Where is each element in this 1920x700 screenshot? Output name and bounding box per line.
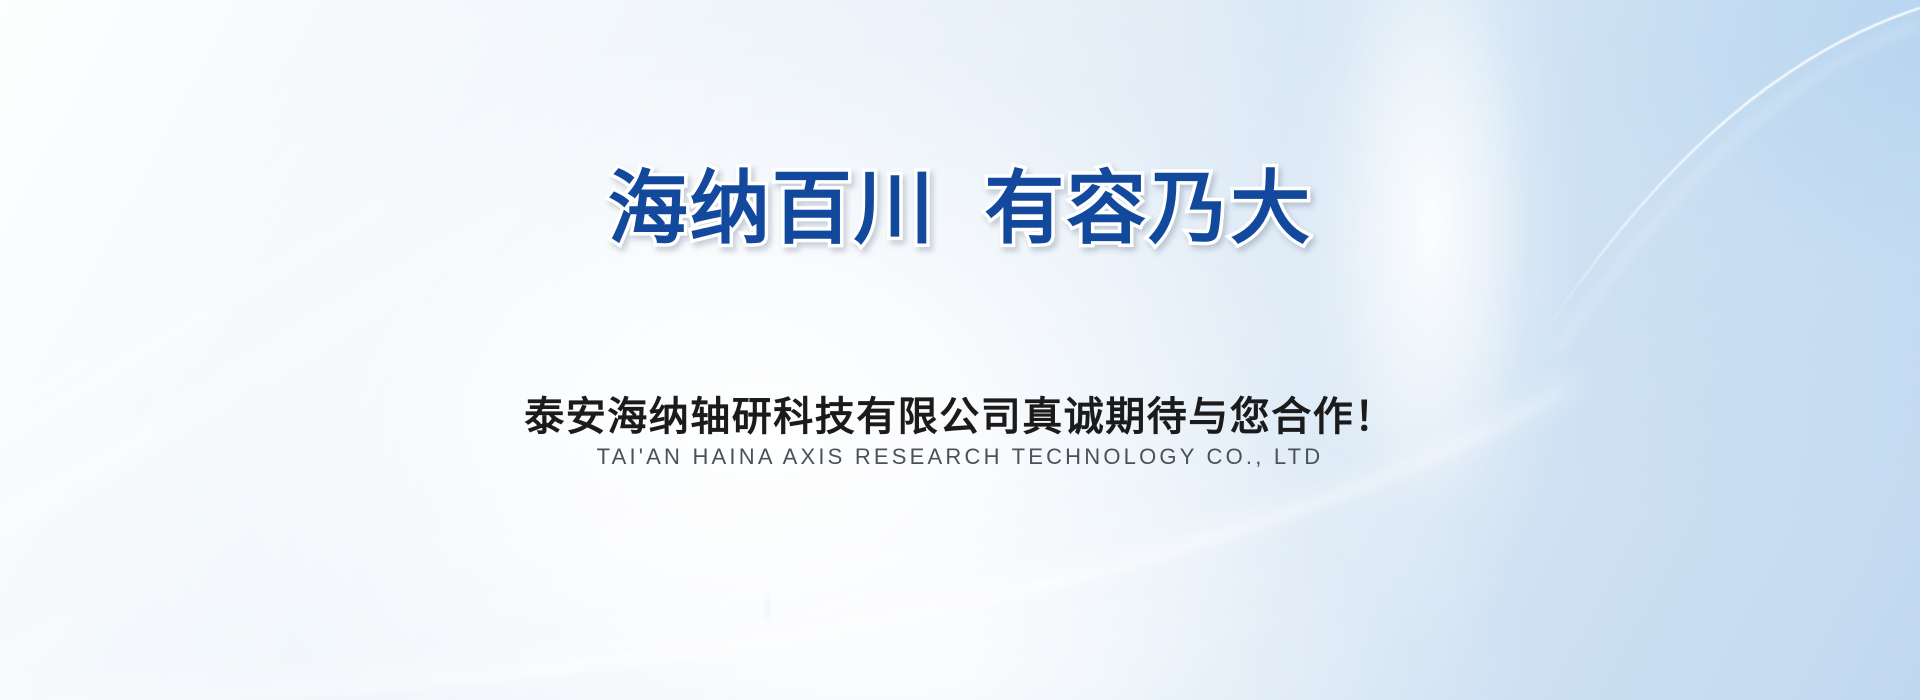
banner-subtitle-english: TAI'AN HAINA AXIS RESEARCH TECHNOLOGY CO… (0, 444, 1920, 470)
hero-banner: 海纳百川 有容乃大 泰安海纳轴研科技有限公司真诚期待与您合作！ TAI'AN H… (0, 0, 1920, 700)
banner-subtitle-chinese: 泰安海纳轴研科技有限公司真诚期待与您合作！ (0, 384, 1920, 442)
banner-headline: 海纳百川 有容乃大 (0, 168, 1920, 250)
banner-content: 海纳百川 有容乃大 泰安海纳轴研科技有限公司真诚期待与您合作！ TAI'AN H… (0, 0, 1920, 700)
